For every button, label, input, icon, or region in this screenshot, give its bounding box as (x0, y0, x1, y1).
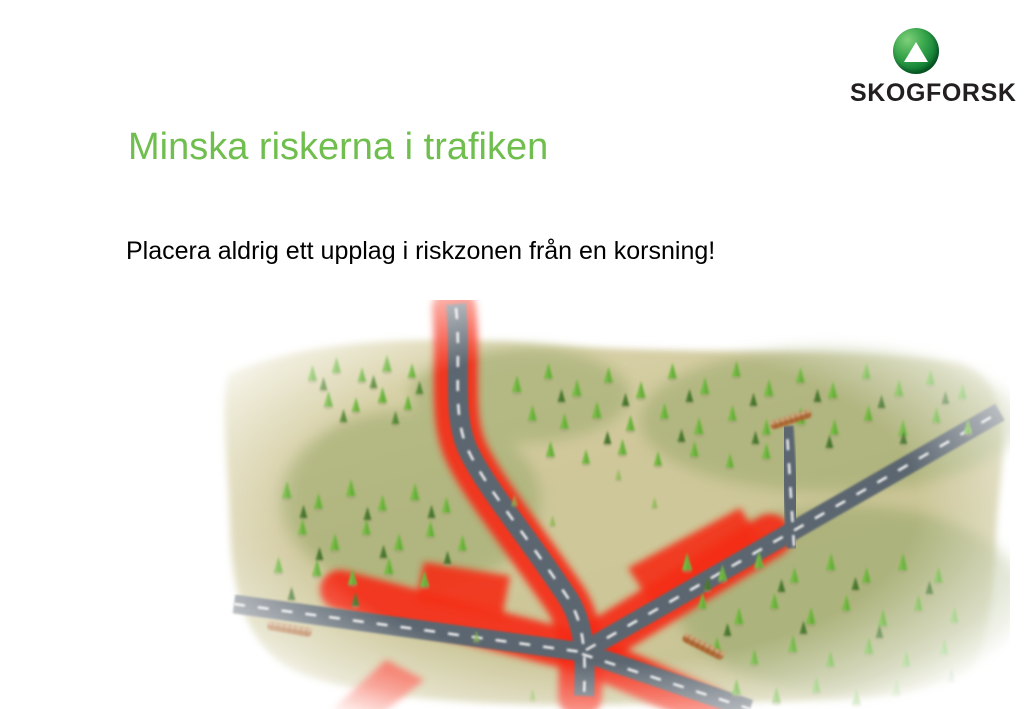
aerial-forest-road-illustration (210, 300, 1010, 709)
presentation-slide: SKOGFORSK Minska riskerna i trafiken Pla… (0, 0, 1024, 709)
illustration-canvas (210, 300, 1010, 709)
slide-body-text: Placera aldrig ett upplag i riskzonen fr… (126, 236, 715, 266)
page-title: Minska riskerna i trafiken (128, 126, 548, 170)
skogforsk-logo: SKOGFORSK (850, 28, 982, 106)
green-circle-triangle-icon (893, 28, 939, 74)
logo-wordmark: SKOGFORSK (850, 81, 982, 106)
